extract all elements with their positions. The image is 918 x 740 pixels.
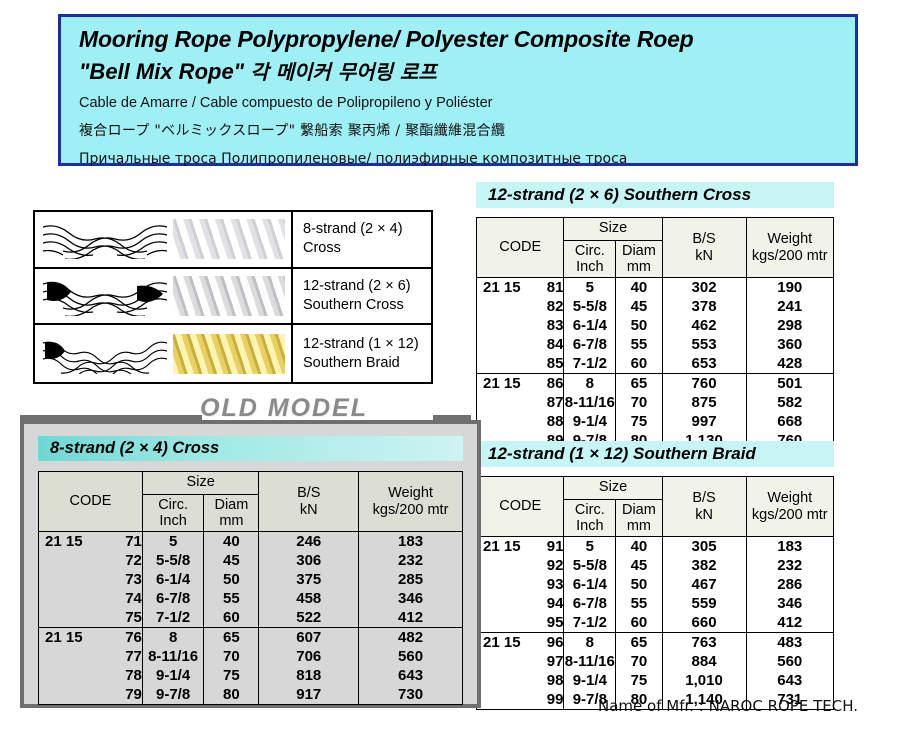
- cell-code: 94: [477, 594, 564, 613]
- cell-code: 72: [39, 551, 143, 570]
- code-suffix: 76: [125, 629, 142, 646]
- cell-diam: 55: [616, 335, 662, 354]
- cell-bs: 997: [662, 412, 746, 431]
- cell-code: 21 1596: [477, 633, 564, 653]
- col-header-bs: B/S kN: [662, 218, 746, 278]
- col-header-bs-line2: kN: [663, 507, 746, 523]
- table-body-group-1: 21 1581 5 40 302 190 82 5-5/8 45 378 241…: [477, 278, 834, 374]
- cell-weight: 412: [359, 608, 463, 628]
- col-header-weight: Weight kgs/200 mtr: [746, 477, 834, 537]
- code-prefix: 21 15: [477, 635, 521, 651]
- cell-bs: 884: [662, 652, 746, 671]
- cell-circ: 5-5/8: [564, 556, 616, 575]
- cell-weight: 412: [746, 613, 834, 633]
- table-row: 21 1591 5 40 305 183: [477, 537, 834, 557]
- cell-weight: 190: [746, 278, 834, 298]
- table-row: 92 5-5/8 45 382 232: [477, 556, 834, 575]
- col-header-circ-line1: Circ.: [564, 502, 615, 518]
- cell-code: 78: [39, 666, 143, 685]
- code-suffix: 91: [547, 538, 564, 555]
- table-row: 84 6-7/8 55 553 360: [477, 335, 834, 354]
- col-header-weight-line2: kgs/200 mtr: [359, 502, 462, 518]
- braided-rope-8-strand-icon: [41, 219, 169, 259]
- cell-weight: 232: [359, 551, 463, 570]
- cell-diam: 75: [616, 671, 662, 690]
- cell-circ: 6-7/8: [142, 589, 203, 608]
- cell-code: 77: [39, 647, 143, 666]
- col-header-bs-line1: B/S: [663, 231, 746, 247]
- table-row: 82 5-5/8 45 378 241: [477, 297, 834, 316]
- cell-code: 83: [477, 316, 564, 335]
- table-head: CODE Size B/S kN Weight kgs/200 mtr Circ…: [477, 477, 834, 537]
- table-row: 21 1581 5 40 302 190: [477, 278, 834, 298]
- cell-diam: 45: [616, 297, 662, 316]
- cell-diam: 75: [616, 412, 662, 431]
- table-row: 21 1571 5 40 246 183: [39, 532, 463, 552]
- cell-bs: 302: [662, 278, 746, 298]
- col-header-circ: Circ. Inch: [142, 495, 203, 532]
- col-header-weight-line1: Weight: [747, 231, 834, 247]
- cell-bs: 763: [662, 633, 746, 653]
- cell-diam: 70: [616, 393, 662, 412]
- section-title-eight-strand-cross: 8-strand (2 × 4) Cross: [38, 436, 463, 461]
- old-model-tag: OLD MODEL: [10, 398, 480, 422]
- cell-bs: 305: [662, 537, 746, 557]
- rope-photo-white-black-icon: [173, 276, 285, 316]
- rope-type-legend-panel: 8-strand (2 × 4) Cross 12-strand (2 ×: [33, 210, 433, 384]
- cell-weight: 346: [746, 594, 834, 613]
- cell-circ: 5-5/8: [142, 551, 203, 570]
- cell-weight: 560: [746, 652, 834, 671]
- rope-legend-label-line1: 8-strand (2 × 4): [303, 220, 431, 239]
- cell-code: 73: [39, 570, 143, 589]
- col-header-diam: Diam mm: [204, 495, 259, 532]
- table-row: 95 7-1/2 60 660 412: [477, 613, 834, 633]
- table-head-row-1: CODE Size B/S kN Weight kgs/200 mtr: [39, 472, 463, 495]
- cell-code: 21 1586: [477, 374, 564, 394]
- cell-code: 82: [477, 297, 564, 316]
- table-body-group-1: 21 1571 5 40 246 183 72 5-5/8 45 306 232: [39, 532, 463, 628]
- col-header-circ: Circ. Inch: [564, 500, 616, 537]
- rope-legend-row: 12-strand (1 × 12) Southern Braid: [35, 325, 431, 382]
- col-header-diam-line1: Diam: [204, 497, 258, 513]
- cell-diam: 70: [204, 647, 259, 666]
- cell-diam: 60: [616, 354, 662, 374]
- header-subtitle-spanish: Cable de Amarre / Cable compuesto de Pol…: [79, 93, 855, 114]
- rope-legend-label-line2: Southern Cross: [303, 296, 431, 315]
- cell-bs: 306: [259, 551, 359, 570]
- col-header-size: Size: [564, 218, 662, 241]
- cell-code: 87: [477, 393, 564, 412]
- cell-diam: 55: [616, 594, 662, 613]
- table-row: 94 6-7/8 55 559 346: [477, 594, 834, 613]
- cell-circ: 8: [564, 374, 616, 394]
- cell-code: 98: [477, 671, 564, 690]
- cell-code: 79: [39, 685, 143, 705]
- table-row: 87 8-11/16 70 875 582: [477, 393, 834, 412]
- col-header-size: Size: [142, 472, 259, 495]
- cell-bs: 553: [662, 335, 746, 354]
- cell-circ: 9-1/4: [142, 666, 203, 685]
- col-header-circ-line1: Circ.: [143, 497, 203, 513]
- header-title-line2: "Bell Mix Rope" 각 메이커 무어링 로프: [79, 58, 855, 87]
- table-row: 85 7-1/2 60 653 428: [477, 354, 834, 374]
- cell-circ: 8: [142, 628, 203, 648]
- code-suffix: 81: [547, 279, 564, 296]
- cell-bs: 917: [259, 685, 359, 705]
- col-header-bs-line1: B/S: [259, 485, 358, 501]
- table-row: 72 5-5/8 45 306 232: [39, 551, 463, 570]
- rope-legend-label-line1: 12-strand (1 × 12): [303, 335, 431, 354]
- col-header-bs-line2: kN: [259, 502, 358, 518]
- table-head-row-1: CODE Size B/S kN Weight kgs/200 mtr: [477, 477, 834, 500]
- col-header-diam-line2: mm: [204, 513, 258, 529]
- old-model-label: OLD MODEL: [200, 394, 368, 423]
- cell-bs: 375: [259, 570, 359, 589]
- cell-circ: 6-1/4: [564, 575, 616, 594]
- col-header-diam: Diam mm: [616, 241, 662, 278]
- cell-circ: 5-5/8: [564, 297, 616, 316]
- cell-circ: 6-7/8: [564, 335, 616, 354]
- cell-diam: 70: [616, 652, 662, 671]
- cell-bs: 382: [662, 556, 746, 575]
- cell-weight: 428: [746, 354, 834, 374]
- cell-code: 21 1571: [39, 532, 143, 552]
- col-header-bs: B/S kN: [259, 472, 359, 532]
- cell-weight: 346: [359, 589, 463, 608]
- table-row: 83 6-1/4 50 462 298: [477, 316, 834, 335]
- cell-circ: 8-11/16: [564, 652, 616, 671]
- cell-circ: 6-1/4: [564, 316, 616, 335]
- cell-code: 84: [477, 335, 564, 354]
- cell-bs: 875: [662, 393, 746, 412]
- cell-circ: 5: [564, 537, 616, 557]
- cell-weight: 360: [746, 335, 834, 354]
- cell-weight: 183: [746, 537, 834, 557]
- col-header-weight-line2: kgs/200 mtr: [747, 248, 834, 264]
- cell-bs: 378: [662, 297, 746, 316]
- col-header-weight: Weight kgs/200 mtr: [746, 218, 834, 278]
- cell-circ: 9-1/4: [564, 671, 616, 690]
- rope-legend-row: 8-strand (2 × 4) Cross: [35, 212, 431, 269]
- table-row: 74 6-7/8 55 458 346: [39, 589, 463, 608]
- cell-code: 88: [477, 412, 564, 431]
- spec-table-southern-cross: CODE Size B/S kN Weight kgs/200 mtr Circ…: [476, 217, 834, 451]
- code-prefix: 21 15: [477, 539, 521, 555]
- table-head: CODE Size B/S kN Weight kgs/200 mtr Circ…: [477, 218, 834, 278]
- cell-weight: 482: [359, 628, 463, 648]
- cell-circ: 6-7/8: [564, 594, 616, 613]
- cell-weight: 298: [746, 316, 834, 335]
- header-subtitle-cjk: 複合ロープ "ベルミックスロープ" 繋船索 聚丙烯 / 聚酯纖維混合纜: [79, 121, 855, 141]
- cell-weight: 668: [746, 412, 834, 431]
- rope-photo-yellow-icon: [173, 334, 285, 374]
- braided-rope-12-strand-cross-icon: [41, 276, 169, 316]
- col-header-weight-line2: kgs/200 mtr: [747, 507, 834, 523]
- cell-bs: 653: [662, 354, 746, 374]
- table-wrapper: CODE Size B/S kN Weight kgs/200 mtr Circ…: [476, 217, 834, 451]
- cell-diam: 40: [616, 278, 662, 298]
- table-body-group-1: 21 1591 5 40 305 183 92 5-5/8 45 382 232…: [477, 537, 834, 633]
- header-title-english: "Bell Mix Rope": [79, 59, 244, 84]
- table-row: 21 1586 8 65 760 501: [477, 374, 834, 394]
- code-suffix: 86: [547, 375, 564, 392]
- cell-circ: 9-1/4: [564, 412, 616, 431]
- table-wrapper: CODE Size B/S kN Weight kgs/200 mtr: [38, 471, 463, 705]
- cell-circ: 5: [564, 278, 616, 298]
- cell-weight: 483: [746, 633, 834, 653]
- cell-code: 21 1576: [39, 628, 143, 648]
- col-header-weight-line1: Weight: [747, 490, 834, 506]
- rope-legend-row: 12-strand (2 × 6) Southern Cross: [35, 269, 431, 326]
- cell-code: 93: [477, 575, 564, 594]
- col-header-diam: Diam mm: [616, 500, 662, 537]
- cell-weight: 582: [746, 393, 834, 412]
- cell-bs: 522: [259, 608, 359, 628]
- col-header-code: CODE: [477, 218, 564, 278]
- table-row: 79 9-7/8 80 917 730: [39, 685, 463, 705]
- cell-circ: 7-1/2: [564, 354, 616, 374]
- col-header-weight: Weight kgs/200 mtr: [359, 472, 463, 532]
- cell-weight: 232: [746, 556, 834, 575]
- col-header-code: CODE: [477, 477, 564, 537]
- cell-bs: 246: [259, 532, 359, 552]
- cell-bs: 462: [662, 316, 746, 335]
- cell-circ: 8-11/16: [142, 647, 203, 666]
- rope-legend-label-line2: Southern Braid: [303, 354, 431, 373]
- col-header-circ: Circ. Inch: [564, 241, 616, 278]
- cell-weight: 643: [359, 666, 463, 685]
- header-banner: Mooring Rope Polypropylene/ Polyester Co…: [58, 14, 858, 166]
- code-prefix: 21 15: [477, 376, 521, 392]
- cell-weight: 730: [359, 685, 463, 705]
- cell-circ: 7-1/2: [564, 613, 616, 633]
- cell-weight: 183: [359, 532, 463, 552]
- rope-legend-label: 8-strand (2 × 4) Cross: [293, 212, 431, 267]
- cell-weight: 501: [746, 374, 834, 394]
- rope-photo-white-icon: [173, 219, 285, 259]
- rope-illustration-cell: [35, 269, 293, 324]
- cell-diam: 50: [616, 316, 662, 335]
- code-suffix: 96: [547, 634, 564, 651]
- table-wrapper: CODE Size B/S kN Weight kgs/200 mtr Circ…: [476, 476, 834, 710]
- cell-circ: 6-1/4: [142, 570, 203, 589]
- cell-diam: 50: [616, 575, 662, 594]
- cell-bs: 607: [259, 628, 359, 648]
- cell-code: 74: [39, 589, 143, 608]
- table-row: 98 9-1/4 75 1,010 643: [477, 671, 834, 690]
- cell-diam: 60: [616, 613, 662, 633]
- code-prefix: 21 15: [39, 630, 83, 646]
- cell-bs: 818: [259, 666, 359, 685]
- col-header-circ-line1: Circ.: [564, 243, 615, 259]
- rope-legend-label: 12-strand (1 × 12) Southern Braid: [293, 325, 431, 382]
- cell-bs: 559: [662, 594, 746, 613]
- header-title-line1: Mooring Rope Polypropylene/ Polyester Co…: [79, 25, 855, 54]
- cell-code: 21 1591: [477, 537, 564, 557]
- cell-diam: 65: [204, 628, 259, 648]
- cell-weight: 241: [746, 297, 834, 316]
- col-header-diam-line2: mm: [616, 259, 661, 275]
- table-body-group-2: 21 1586 8 65 760 501 87 8-11/16 70 875 5…: [477, 374, 834, 451]
- col-header-bs-line2: kN: [663, 248, 746, 264]
- table-head-row-1: CODE Size B/S kN Weight kgs/200 mtr: [477, 218, 834, 241]
- cell-code: 95: [477, 613, 564, 633]
- cell-bs: 467: [662, 575, 746, 594]
- spec-table-eight-strand-cross: CODE Size B/S kN Weight kgs/200 mtr: [38, 471, 463, 705]
- cell-code: 75: [39, 608, 143, 628]
- cell-diam: 80: [204, 685, 259, 705]
- cell-bs: 1,010: [662, 671, 746, 690]
- cell-circ: 9-7/8: [142, 685, 203, 705]
- old-model-panel: 8-strand (2 × 4) Cross CODE Size B/S kN: [20, 420, 481, 708]
- rope-illustration-cell: [35, 212, 293, 267]
- cell-diam: 40: [204, 532, 259, 552]
- table-head: CODE Size B/S kN Weight kgs/200 mtr: [39, 472, 463, 532]
- section-title-southern-cross: 12-strand (2 × 6) Southern Cross: [476, 182, 834, 208]
- cell-bs: 760: [662, 374, 746, 394]
- cell-diam: 45: [616, 556, 662, 575]
- code-prefix: 21 15: [39, 534, 83, 550]
- col-header-circ-line2: Inch: [564, 259, 615, 275]
- table-row: 75 7-1/2 60 522 412: [39, 608, 463, 628]
- col-header-diam-line2: mm: [616, 518, 661, 534]
- cell-diam: 55: [204, 589, 259, 608]
- col-header-bs-line1: B/S: [663, 490, 746, 506]
- cell-weight: 285: [359, 570, 463, 589]
- col-header-weight-line1: Weight: [359, 485, 462, 501]
- old-model-section: OLD MODEL 8-strand (2 × 4) Cross CODE Si…: [10, 398, 480, 422]
- table-body-group-2: 21 1576 8 65 607 482 77 8-11/16 70 706 5…: [39, 628, 463, 705]
- cell-diam: 65: [616, 374, 662, 394]
- cell-circ: 8-11/16: [564, 393, 616, 412]
- col-header-circ-line2: Inch: [143, 513, 203, 529]
- cell-diam: 60: [204, 608, 259, 628]
- cell-code: 97: [477, 652, 564, 671]
- section-southern-cross: 12-strand (2 × 6) Southern Cross CODE Si…: [476, 182, 834, 451]
- rope-legend-label-line2: Cross: [303, 239, 431, 258]
- cell-code: 99: [477, 690, 564, 710]
- table-row: 77 8-11/16 70 706 560: [39, 647, 463, 666]
- rope-legend-label: 12-strand (2 × 6) Southern Cross: [293, 269, 431, 324]
- cell-code: 21 1581: [477, 278, 564, 298]
- cell-diam: 45: [204, 551, 259, 570]
- cell-bs: 706: [259, 647, 359, 666]
- col-header-code: CODE: [39, 472, 143, 532]
- cell-weight: 286: [746, 575, 834, 594]
- code-prefix: 21 15: [477, 280, 521, 296]
- cell-circ: 7-1/2: [142, 608, 203, 628]
- spec-table-southern-braid: CODE Size B/S kN Weight kgs/200 mtr Circ…: [476, 476, 834, 710]
- code-suffix: 71: [125, 533, 142, 550]
- header-title-korean: 각 메이커 무어링 로프: [250, 60, 437, 84]
- table-row: 21 1596 8 65 763 483: [477, 633, 834, 653]
- cell-bs: 660: [662, 613, 746, 633]
- table-row: 73 6-1/4 50 375 285: [39, 570, 463, 589]
- table-row: 97 8-11/16 70 884 560: [477, 652, 834, 671]
- col-header-diam-line1: Diam: [616, 243, 661, 259]
- cell-circ: 8: [564, 633, 616, 653]
- col-header-circ-line2: Inch: [564, 518, 615, 534]
- cell-weight: 643: [746, 671, 834, 690]
- table-row: 78 9-1/4 75 818 643: [39, 666, 463, 685]
- cell-diam: 40: [616, 537, 662, 557]
- section-title-southern-braid: 12-strand (1 × 12) Southern Braid: [476, 441, 834, 467]
- cell-weight: 560: [359, 647, 463, 666]
- manufacturer-note: Name of Mfr. : NAROC ROPE TECH.: [598, 697, 858, 715]
- table-row: 93 6-1/4 50 467 286: [477, 575, 834, 594]
- cell-diam: 65: [616, 633, 662, 653]
- section-southern-braid: 12-strand (1 × 12) Southern Braid CODE S…: [476, 441, 834, 710]
- table-row: 88 9-1/4 75 997 668: [477, 412, 834, 431]
- cell-code: 92: [477, 556, 564, 575]
- rope-legend-label-line1: 12-strand (2 × 6): [303, 277, 431, 296]
- cell-code: 85: [477, 354, 564, 374]
- col-header-size: Size: [564, 477, 662, 500]
- col-header-bs: B/S kN: [662, 477, 746, 537]
- cell-diam: 75: [204, 666, 259, 685]
- col-header-diam-line1: Diam: [616, 502, 661, 518]
- header-subtitle-russian: Причальные троса Полипропиленовые/ полиэ…: [79, 149, 855, 169]
- cell-bs: 458: [259, 589, 359, 608]
- table-row: 21 1576 8 65 607 482: [39, 628, 463, 648]
- cell-circ: 5: [142, 532, 203, 552]
- rope-illustration-cell: [35, 325, 293, 382]
- braided-rope-12-strand-braid-icon: [41, 334, 169, 374]
- cell-diam: 50: [204, 570, 259, 589]
